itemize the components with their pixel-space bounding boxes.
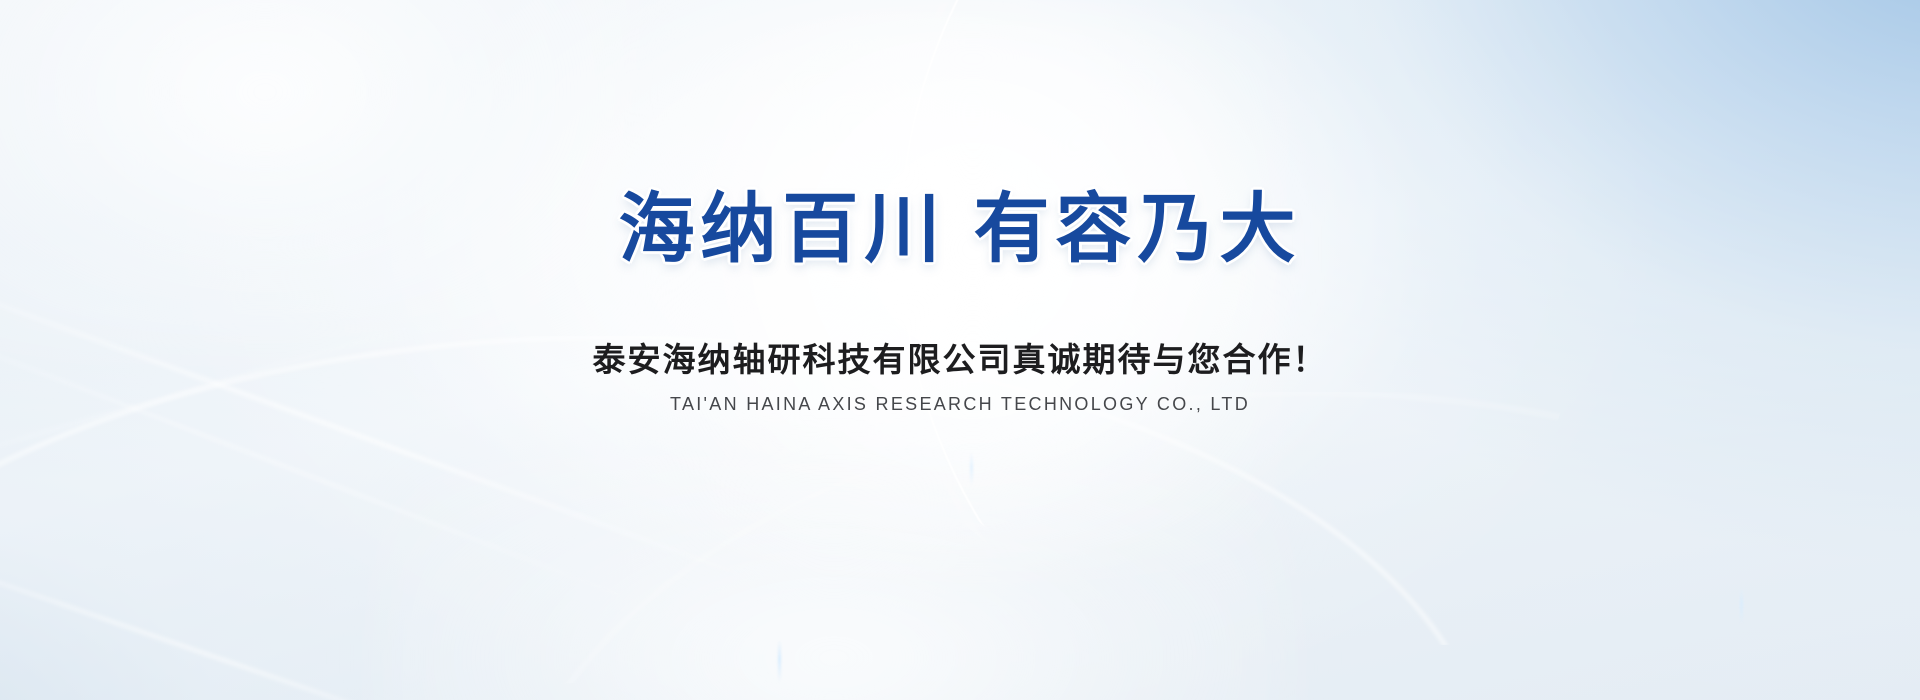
banner-subtitle-english: TAI'AN HAINA AXIS RESEARCH TECHNOLOGY CO… — [670, 395, 1250, 413]
banner-content: 海纳百川 有容乃大 泰安海纳轴研科技有限公司真诚期待与您合作！ TAI'AN H… — [0, 0, 1920, 700]
banner-headline: 海纳百川 有容乃大 — [618, 192, 1301, 268]
hero-banner: 海纳百川 有容乃大 泰安海纳轴研科技有限公司真诚期待与您合作！ TAI'AN H… — [0, 0, 1920, 700]
banner-subtitle-chinese: 泰安海纳轴研科技有限公司真诚期待与您合作！ — [593, 343, 1328, 376]
